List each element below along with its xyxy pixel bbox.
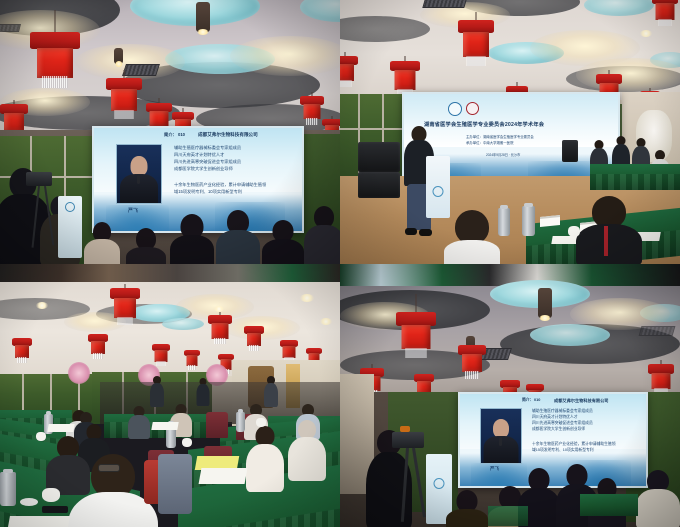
audience-silhouette xyxy=(446,490,488,527)
attendee-foreground xyxy=(576,196,642,264)
slide-summary: 十余年生物医药产业化经验，累计申请辅助生殖领 xyxy=(174,182,266,188)
red-lantern xyxy=(12,338,32,368)
handout xyxy=(151,422,178,430)
red-lantern xyxy=(30,10,80,90)
teacup xyxy=(568,226,580,237)
slide-header-company: 成都艾弗尔生物科技有限公司 xyxy=(198,132,258,138)
table-edge xyxy=(488,506,528,526)
table-edge xyxy=(580,494,638,516)
photo-collage: 简介： 010 成都艾弗尔生物科技有限公司 辅助生殖医疗器械标委会专家组成员 四… xyxy=(0,0,680,527)
teacup xyxy=(256,418,266,427)
downlight xyxy=(36,302,48,309)
handout xyxy=(47,424,74,432)
panel-top-bleed xyxy=(0,264,340,282)
panel-top-left: 简介： 010 成都艾弗尔生物科技有限公司 辅助生殖医疗器械标委会专家组成员 四… xyxy=(0,0,340,264)
red-lantern xyxy=(184,350,200,374)
podium xyxy=(426,156,450,218)
skylight xyxy=(162,318,204,330)
ceiling-vent xyxy=(0,24,21,32)
eyeglasses xyxy=(98,464,120,472)
society-emblem xyxy=(448,102,462,116)
slide-summary: 十余年生物医药产业化经验，累计申请辅助生殖领 xyxy=(532,442,616,447)
red-lantern xyxy=(208,312,232,348)
slide-header-label: 简介： xyxy=(164,132,177,138)
audience-silhouette xyxy=(262,220,304,264)
ceiling-spotlight xyxy=(114,48,123,64)
audience-silhouette xyxy=(636,470,680,527)
thermos-flask xyxy=(0,472,16,506)
red-lantern xyxy=(396,294,436,358)
slide-bullet: 四川先进高寒突破促进会专家组成员 xyxy=(174,159,241,165)
red-lantern xyxy=(244,326,264,356)
ceiling-spotlight xyxy=(538,288,552,318)
handout xyxy=(199,468,248,484)
slide-summary: 域15项发明专利、10项实用新型专利 xyxy=(174,189,242,195)
smartphone xyxy=(42,506,68,513)
red-lantern xyxy=(88,334,108,364)
panel-bottom-right: 简介： 010 成都艾弗尔生物科技有限公司 辅助生殖医疗器械标委会专家组成员 四… xyxy=(340,264,680,527)
handout xyxy=(6,516,70,527)
red-lantern xyxy=(458,12,494,70)
teacup xyxy=(42,488,60,502)
av-flight-case xyxy=(358,142,400,172)
slide-header-company: 成都艾弗尔生物科技有限公司 xyxy=(554,398,608,404)
pa-speaker xyxy=(562,140,578,162)
red-lantern xyxy=(652,0,678,34)
presenter-shoe xyxy=(405,228,417,235)
ceiling-spotlight xyxy=(196,2,210,32)
chair xyxy=(206,412,228,438)
slide-summary: 域15项发明专利、10项实用新型专利 xyxy=(532,448,594,453)
camera-light xyxy=(400,426,410,432)
thermos-flask xyxy=(522,206,535,236)
panel-top-right: 湖南省医学会生殖医学专业委员会2024年学术年会 主办单位：湖南省医学会生殖医学… xyxy=(340,0,680,264)
red-lantern xyxy=(300,92,324,130)
jacket-on-chair xyxy=(158,454,192,514)
banner-org: 承办单位：中南大学湘雅一医院 xyxy=(466,140,513,145)
red-lantern xyxy=(110,284,140,330)
attendee-foreground xyxy=(444,210,500,264)
university-emblem xyxy=(466,102,479,115)
presenter-name: 严飞 xyxy=(128,207,138,214)
attendee-standing xyxy=(196,378,209,412)
slide-bullet: 四川先进高寒突破促进会专家组成员 xyxy=(532,421,593,426)
audience-silhouette xyxy=(126,228,166,264)
audience-silhouette xyxy=(304,206,340,264)
audience-silhouette xyxy=(170,214,214,264)
speaker-portrait xyxy=(480,408,522,464)
red-lantern xyxy=(458,340,486,384)
saucer xyxy=(20,498,38,506)
head-table xyxy=(590,164,680,190)
slide-bullet: 成都医学院大学生创新创业导师 xyxy=(532,427,585,432)
slide-bullet: 辅助生殖医疗器械标委会专家组成员 xyxy=(532,409,593,414)
teacup xyxy=(36,432,46,441)
banner-title: 湖南省医学会生殖医学专业委员会2024年学术年会 xyxy=(424,121,544,128)
name-card xyxy=(540,215,560,227)
slide-bullet: 四川天府英才计划特优人才 xyxy=(174,152,224,158)
flower-decoration xyxy=(68,362,90,384)
ceiling-cove-light xyxy=(576,58,680,92)
audience-silhouette xyxy=(84,222,120,264)
red-lantern xyxy=(340,52,358,94)
thermos-flask xyxy=(236,412,245,432)
banner-host: 主办单位：湖南省医学会生殖医学专业委员会 xyxy=(466,134,534,139)
video-camera xyxy=(26,172,52,186)
slide-header-label: 简介： xyxy=(522,398,533,403)
av-flight-case xyxy=(358,172,400,198)
video-camera xyxy=(392,432,424,448)
presenter-name: 严飞 xyxy=(490,466,499,472)
downlight xyxy=(300,294,314,302)
roll-up-banner xyxy=(58,196,82,258)
downlight xyxy=(640,30,652,37)
slide-bullet: 四川天府英才计划特优人才 xyxy=(532,415,578,420)
attendee-standing xyxy=(150,376,164,412)
teacup xyxy=(182,438,192,447)
banner-date: 2024年9月28日 · 长沙市 xyxy=(486,152,520,157)
lanyard xyxy=(604,226,608,256)
ceiling-cove-light xyxy=(230,36,340,76)
slide-bullet: 辅助生殖医疗器械标委会专家组成员 xyxy=(174,145,241,151)
ceiling-vent xyxy=(639,326,676,336)
red-lantern xyxy=(106,70,142,126)
attendee-seated xyxy=(246,426,284,488)
panel-bottom-left xyxy=(0,264,340,527)
attendee-seated xyxy=(128,406,150,438)
presenter-shoe xyxy=(419,229,432,236)
slide-header-index: 010 xyxy=(534,398,540,402)
ceiling-vent xyxy=(422,0,467,8)
downlight xyxy=(320,318,332,325)
slide-bullet: 成都医学院大学生创新创业导师 xyxy=(174,166,233,172)
audience-silhouette xyxy=(216,210,260,264)
attendee-seated xyxy=(288,420,326,478)
slide-header-index: 010 xyxy=(178,132,185,137)
speaker-portrait xyxy=(116,144,162,204)
attendee-seated xyxy=(46,436,90,492)
